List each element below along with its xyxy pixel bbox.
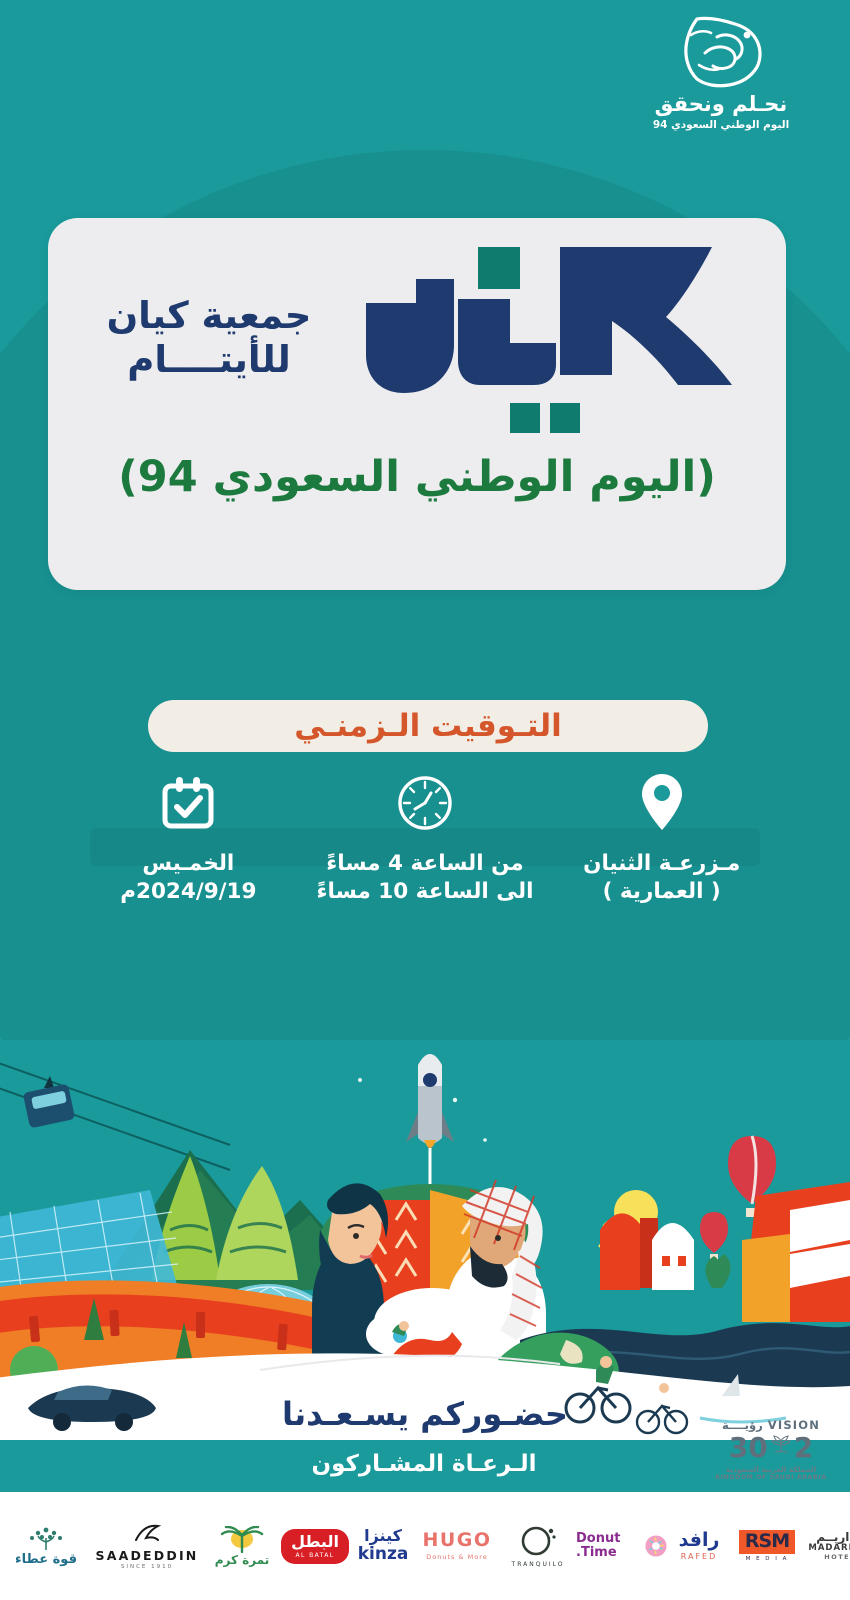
event-time-line2: الى الساعة 10 مساءً (307, 878, 544, 906)
sponsor-logo-tamra-karam: تمرة كرم (206, 1509, 278, 1583)
kayan-wordmark-logo (360, 225, 752, 451)
sponsor-tagline-hugo: Donuts & More (426, 1553, 487, 1561)
occasion-title: (اليوم الوطني السعودي 94) (48, 452, 786, 502)
association-name-line1: جمعية كيان (58, 294, 360, 338)
sponsor-name-madareem: مداريــم (808, 1531, 850, 1544)
event-time-text: من الساعة 4 مساءً الى الساعة 10 مساءً (307, 850, 544, 905)
poster-root: نحـلم ونحقق اليوم الوطني السعودي 94 (0, 0, 850, 1600)
sponsor-name-kinza: كينزا (364, 1528, 402, 1545)
event-date-line1: الخمـيس (70, 850, 307, 878)
sponsor-name-rafed: رافد (679, 1531, 720, 1551)
landscape-illustration (0, 1040, 850, 1440)
national-day-emblem-icon (616, 12, 826, 90)
vision-year: 2 30 (710, 1433, 832, 1462)
association-name: جمعية كيان للأيتــــام (48, 294, 360, 381)
event-details-row: الخمـيس 2024/9/19م (70, 768, 780, 905)
sponsors-logo-strip: قوة عطاء SAADEDDIN SINCE 1910 تمرة كرم (0, 1492, 850, 1600)
event-location-line1: مـزرعـة الثنيان (543, 850, 780, 878)
event-time-line1: من الساعة 4 مساءً (307, 850, 544, 878)
vision-year-left: 2 (794, 1434, 813, 1462)
sponsor-tagline-madareem: MADAREEM (808, 1543, 850, 1553)
event-date-line2: 2024/9/19م (70, 878, 307, 906)
card-top-row: جمعية كيان للأيتــــام (48, 218, 786, 458)
event-date-column: الخمـيس 2024/9/19م (70, 768, 307, 905)
timing-heading-pill: التـوقيت الـزمنـي (148, 700, 708, 752)
sponsor-tagline-albatal: AL BATAL (291, 1552, 339, 1559)
national-day-subtitle: اليوم الوطني السعودي 94 (616, 119, 826, 131)
event-location-text: مـزرعـة الثنيان ( العمارية ) (543, 850, 780, 905)
vision-wordmark-row: VISION رؤيــــة (710, 1418, 832, 1432)
event-location-line2: ( العمارية ) (543, 878, 780, 906)
sponsor-name-rsm: RSM (745, 1532, 789, 1552)
sponsor-tagline-kinza: kinza (358, 1546, 409, 1564)
sponsor-logo-rsm-media: RSM M E D I A (730, 1509, 804, 1583)
location-pin-icon (543, 768, 780, 838)
sponsor-tagline2-madareem: HOTEL (808, 1553, 850, 1561)
national-day-logo: نحـلم ونحقق اليوم الوطني السعودي 94 (616, 12, 826, 131)
vision-en-word: VISION (768, 1418, 820, 1432)
event-time-column: من الساعة 4 مساءً الى الساعة 10 مساءً (307, 768, 544, 905)
association-name-line2: للأيتــــام (58, 338, 360, 382)
vision-year-right: 30 (729, 1434, 768, 1462)
sponsor-logo-albatal: البطل AL BATAL (278, 1509, 352, 1583)
sponsor-tagline-saadeddin: SINCE 1910 (121, 1564, 173, 1570)
sponsor-tagline-tranquilo: TRANQUILO (512, 1561, 565, 1568)
sponsor-logo-donut-time: Donut Time. (576, 1509, 668, 1583)
sponsor-name-hugo: HUGO (422, 1531, 491, 1551)
sponsor-name-albatal: البطل (291, 1534, 339, 1550)
vision-palm-emblem-icon (769, 1433, 793, 1462)
vision-2030-logo: VISION رؤيــــة 2 30 المملكة ال (710, 1418, 832, 1481)
sponsor-name-donut-time: Donut Time. (576, 1532, 639, 1561)
sponsor-name-saadeddin: SAADEDDIN (96, 1549, 199, 1562)
sponsor-logo-saadeddin: SAADEDDIN SINCE 1910 (88, 1509, 206, 1583)
sponsor-tagline-rsm: M E D I A (746, 1556, 789, 1562)
sponsors-heading-pill: الـرعـاة المشـاركون (248, 1445, 600, 1483)
sponsor-logo-tranquilo: TRANQUILO (500, 1509, 576, 1583)
vision-kingdom-en: KINGDOM OF SAUDI ARABIA (710, 1474, 832, 1481)
sponsor-logo-kinza: كينزا kinza (352, 1509, 414, 1583)
sponsor-logo-rafed: رافد RAFED (668, 1509, 730, 1583)
sponsors-heading-text: الـرعـاة المشـاركون (312, 1451, 537, 1477)
event-location-column: مـزرعـة الثنيان ( العمارية ) (543, 768, 780, 905)
sponsor-logo-hugo: HUGO Donuts & More (414, 1509, 500, 1583)
calendar-check-icon (70, 768, 307, 838)
vision-kingdom-ar: المملكة العربية السعودية (710, 1465, 832, 1474)
sponsor-name-quwat-ataa: قوة عطاء (15, 1553, 77, 1567)
sponsor-name-tamra-karam: تمرة كرم (215, 1554, 270, 1567)
event-date-text: الخمـيس 2024/9/19م (70, 850, 307, 905)
sponsor-logo-madareem-hotel: مداريــم MADAREEM HOTEL (804, 1509, 850, 1583)
vision-ar-word: رؤيــــة (722, 1418, 763, 1432)
national-day-title: نحـلم ونحقق (616, 92, 826, 116)
main-info-card: جمعية كيان للأيتــــام (اليوم الوطني الس… (48, 218, 786, 590)
sponsor-tagline-rafed: RAFED (681, 1552, 718, 1561)
clock-icon (307, 768, 544, 838)
sponsor-logo-quwat-ataa: قوة عطاء (4, 1509, 88, 1583)
timing-heading-text: التـوقيت الـزمنـي (294, 708, 561, 744)
